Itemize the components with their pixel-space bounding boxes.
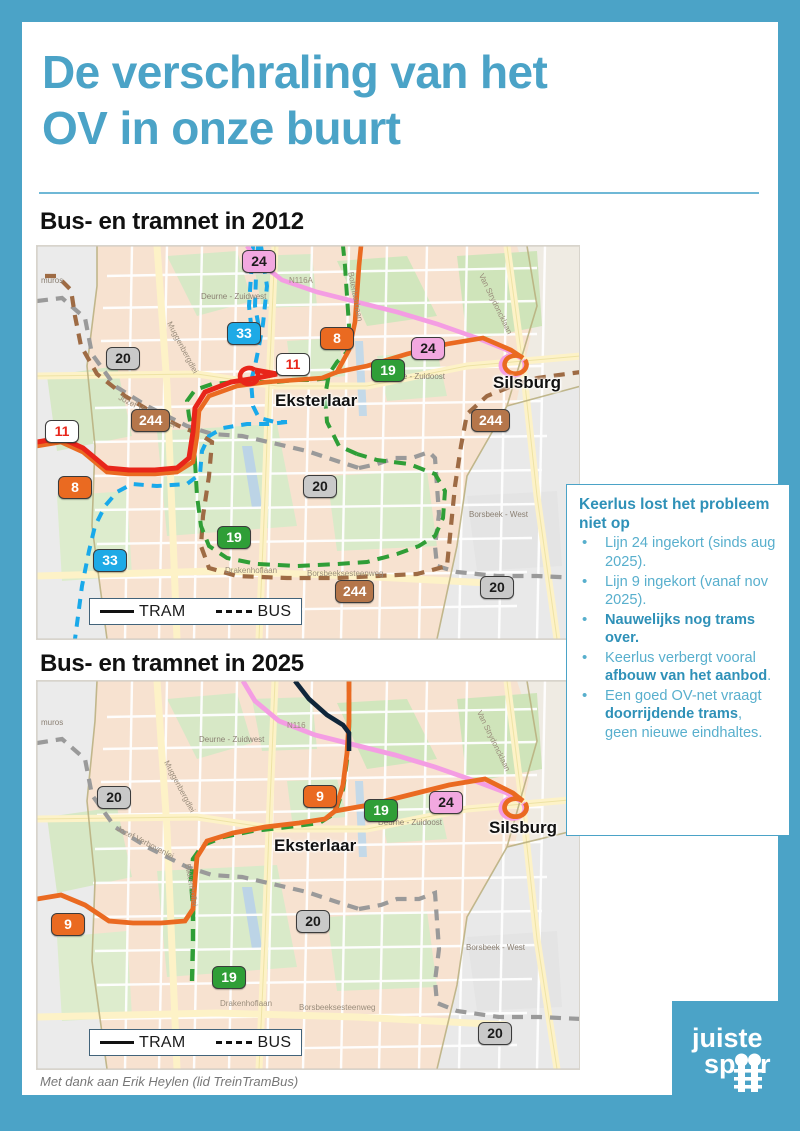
- route-badge-33[interactable]: 33: [93, 549, 127, 572]
- bullet-text: Lijn 9 ingekort (vanaf nov 2025).: [605, 574, 768, 609]
- route-badge-20[interactable]: 20: [296, 910, 330, 933]
- route-badge-244[interactable]: 244: [471, 409, 510, 432]
- legend-bus-label: BUS: [258, 1034, 292, 1052]
- legend-tram-label: TRAM: [139, 1034, 186, 1052]
- route-badge-20[interactable]: 20: [106, 347, 140, 370]
- bus-line-swatch: [216, 610, 252, 613]
- section-heading-2012: Bus- en tramnet in 2012: [40, 208, 304, 236]
- route-badge-244[interactable]: 244: [131, 409, 170, 432]
- bullet-text: Een goed OV-net vraagt doorrijdende tram…: [605, 688, 762, 741]
- place-label-silsburg: Silsburg: [489, 818, 557, 838]
- logo-juiste-spoor[interactable]: juiste sp r: [672, 1001, 778, 1107]
- route-badge-19[interactable]: 19: [371, 359, 405, 382]
- logo-graphic: juiste sp r: [672, 1001, 778, 1107]
- place-label-eksterlaar: Eksterlaar: [274, 836, 356, 856]
- paper-sheet: De verschraling van het OV in onze buurt…: [22, 22, 778, 1095]
- page-title-line1: De verschraling van het: [42, 46, 547, 98]
- route-badge-24[interactable]: 24: [411, 337, 445, 360]
- route-badge-19[interactable]: 19: [217, 526, 251, 549]
- street-label: Drakenhoflaan: [225, 566, 277, 575]
- route-badge-11[interactable]: 11: [45, 420, 79, 443]
- legend-tram-label: TRAM: [139, 603, 186, 621]
- street-label: Borsbeeksesteenweg: [299, 1003, 376, 1012]
- route-badge-24[interactable]: 24: [429, 791, 463, 814]
- callout-bullet: Lijn 9 ingekort (vanaf nov 2025).: [579, 573, 777, 610]
- bullet-text: Lijn 24 ingekort (sinds aug 2025).: [605, 535, 775, 570]
- street-label: Drakenhoflaan: [220, 999, 272, 1008]
- neighbourhood-label: muros: [41, 276, 63, 285]
- route-badge-19[interactable]: 19: [212, 966, 246, 989]
- route-badge-24[interactable]: 24: [242, 250, 276, 273]
- route-badge-33[interactable]: 33: [227, 322, 261, 345]
- callout-bullet: Lijn 24 ingekort (sinds aug 2025).: [579, 534, 777, 571]
- map-2012[interactable]: Deurne - Zuidwest Deurne - Zuidoost Bors…: [36, 245, 580, 640]
- route-badge-8[interactable]: 8: [320, 327, 354, 350]
- street-label: N116A: [289, 276, 313, 285]
- route-badge-20[interactable]: 20: [97, 786, 131, 809]
- map-legend-2025: TRAM BUS: [89, 1029, 302, 1056]
- tram-line-swatch: [100, 610, 134, 613]
- route-badge-244[interactable]: 244: [335, 580, 374, 603]
- rail-track-icon: [734, 1054, 762, 1093]
- route-badge-9[interactable]: 9: [51, 913, 85, 936]
- bullet-text: Keerlus verbergt vooral afbouw van het a…: [605, 650, 771, 685]
- map-2025[interactable]: Deurne - Zuidwest Deurne - Zuidoost Bors…: [36, 680, 580, 1070]
- page-title: De verschraling van het OV in onze buurt: [42, 44, 722, 156]
- place-label-eksterlaar: Eksterlaar: [275, 391, 357, 411]
- poster: De verschraling van het OV in onze buurt…: [0, 0, 800, 1131]
- place-label-silsburg: Silsburg: [493, 373, 561, 393]
- route-badge-20[interactable]: 20: [303, 475, 337, 498]
- title-divider: [39, 192, 759, 194]
- credit-text: Met dank aan Erik Heylen (lid TreinTramB…: [40, 1074, 298, 1089]
- callout-bullet: Een goed OV-net vraagt doorrijdende tram…: [579, 687, 777, 743]
- bus-line-swatch: [216, 1041, 252, 1044]
- neighbourhood-label: Borsbeek - West: [466, 943, 525, 952]
- neighbourhood-label: Deurne - Zuidwest: [199, 735, 264, 744]
- map-legend-2012: TRAM BUS: [89, 598, 302, 625]
- section-heading-2025: Bus- en tramnet in 2025: [40, 650, 304, 678]
- legend-bus-label: BUS: [258, 603, 292, 621]
- callout-heading: Keerlus lost het probleem niet op: [579, 495, 777, 533]
- callout-bullet: Keerlus verbergt vooral afbouw van het a…: [579, 649, 777, 686]
- street-label: Borsbeeksesteenweg: [307, 569, 384, 578]
- route-badge-9[interactable]: 9: [303, 785, 337, 808]
- callout-box: Keerlus lost het probleem niet op Lijn 2…: [566, 484, 790, 836]
- route-badge-20[interactable]: 20: [478, 1022, 512, 1045]
- page-title-line2: OV in onze buurt: [42, 102, 400, 154]
- callout-bullet-list: Lijn 24 ingekort (sinds aug 2025). Lijn …: [579, 534, 777, 742]
- route-badge-8[interactable]: 8: [58, 476, 92, 499]
- route-badge-19[interactable]: 19: [364, 799, 398, 822]
- logo-text-spoor: sp: [704, 1049, 736, 1079]
- route-badge-20[interactable]: 20: [480, 576, 514, 599]
- neighbourhood-label: Deurne - Zuidwest: [201, 292, 266, 301]
- bullet-text: Nauwelijks nog trams over.: [605, 612, 755, 647]
- logo-text-r: r: [760, 1049, 771, 1079]
- tram-line-swatch: [100, 1041, 134, 1044]
- neighbourhood-label: Borsbeek - West: [469, 510, 528, 519]
- neighbourhood-label: muros: [41, 718, 63, 727]
- street-label: N116: [287, 721, 306, 730]
- callout-bullet: Nauwelijks nog trams over.: [579, 611, 777, 648]
- route-badge-11[interactable]: 11: [276, 353, 310, 376]
